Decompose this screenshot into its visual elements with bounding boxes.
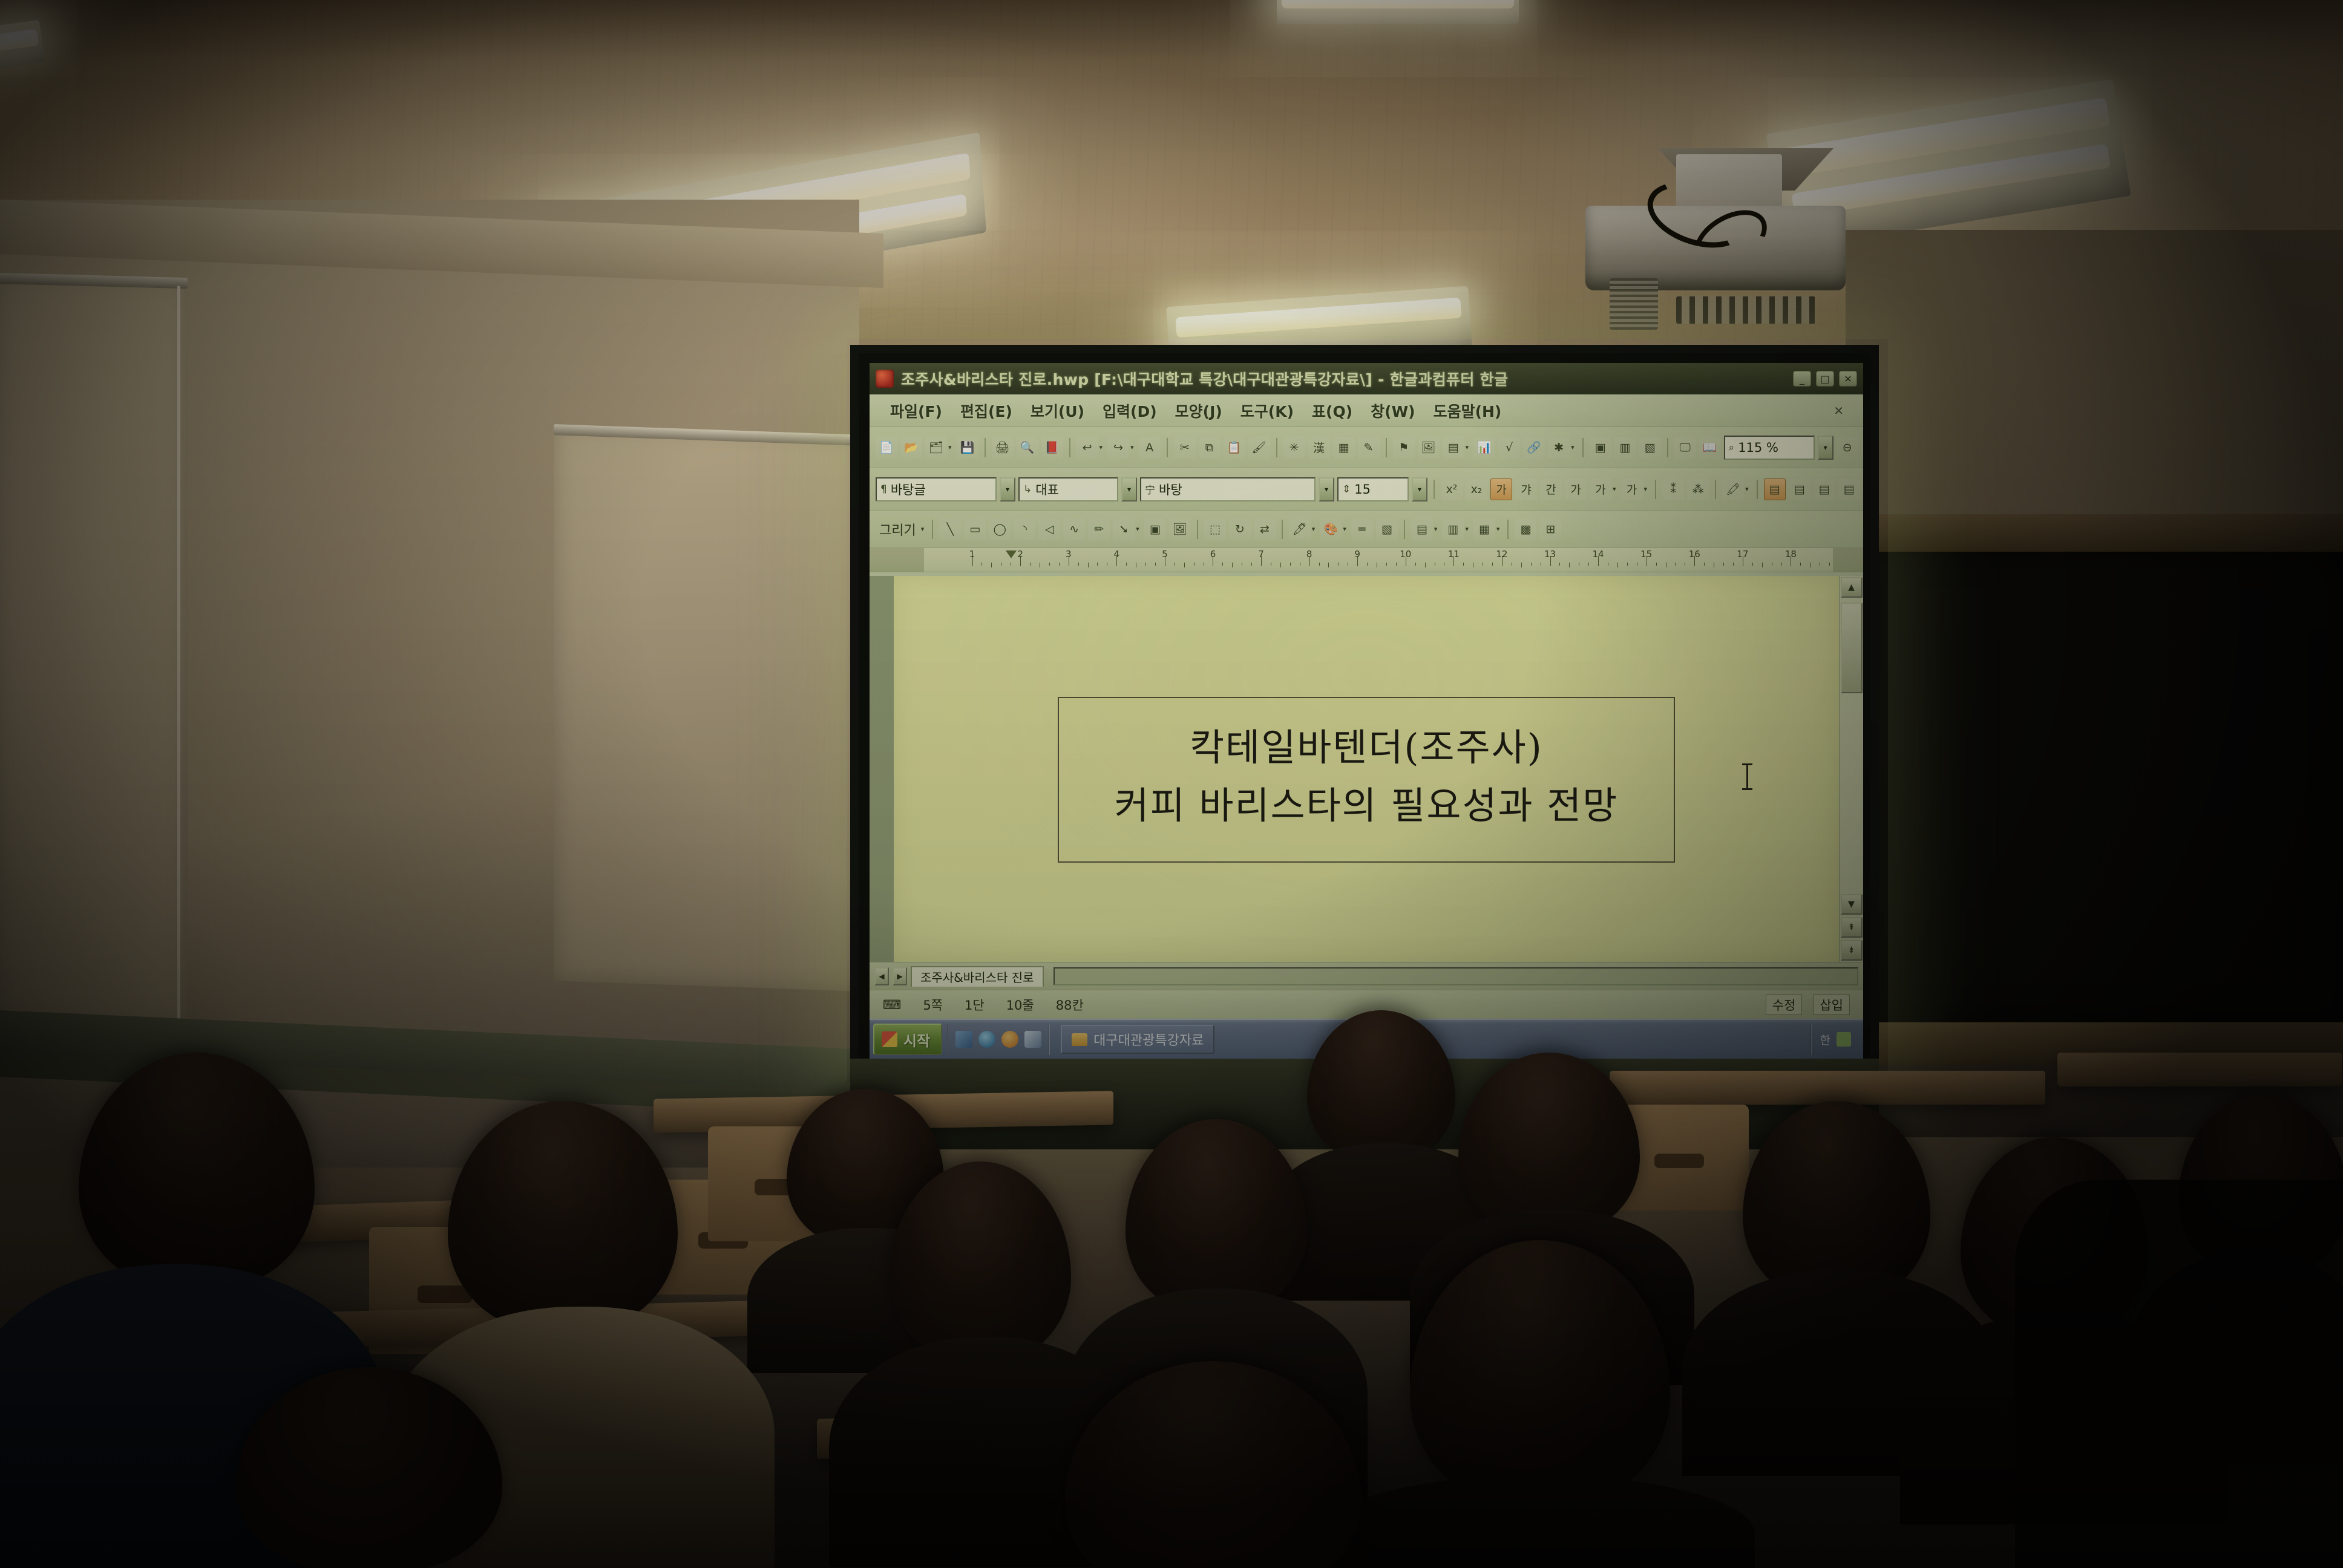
toolbar-separator bbox=[1434, 480, 1435, 499]
subscript-icon[interactable]: x₂ bbox=[1466, 479, 1487, 500]
drawing-toolbar-label: 그리기 bbox=[876, 520, 920, 539]
font-name-combo[interactable]: 宁 바탕 bbox=[1140, 477, 1316, 501]
toolbar-separator bbox=[1069, 438, 1070, 457]
redo-icon[interactable]: ↪ bbox=[1107, 437, 1129, 459]
minimize-button[interactable]: _ bbox=[1793, 371, 1811, 387]
open-document-icon[interactable]: 📂 bbox=[900, 437, 922, 459]
ruler-ticks: 123456789101112131415161718 bbox=[924, 548, 1839, 572]
toolbar-separator bbox=[1757, 480, 1758, 499]
ceiling-projector bbox=[1573, 154, 1858, 296]
ruler-tick-label: 2 bbox=[1017, 549, 1023, 560]
chevron-down-icon[interactable]: ▾ bbox=[1571, 443, 1575, 451]
superscript-icon[interactable]: x² bbox=[1441, 479, 1463, 500]
align-right-icon[interactable]: ▤ bbox=[1838, 479, 1860, 500]
menu-item-view[interactable]: 보기(U) bbox=[1023, 398, 1092, 423]
fill-color-icon[interactable]: 🎨 bbox=[1320, 518, 1342, 540]
hangul-word-processor-window[interactable]: 조주사&바리스타 진로.hwp [F:\대구대학교 특강\대구대관광특강자료\]… bbox=[870, 363, 1863, 1059]
student-desk bbox=[2057, 1053, 2342, 1086]
insert-footnote-icon[interactable]: ✱ bbox=[1548, 437, 1570, 459]
menu-item-window[interactable]: 창(W) bbox=[1363, 398, 1422, 423]
toolbar-separator bbox=[1276, 438, 1277, 457]
text-cursor bbox=[1746, 763, 1748, 790]
hanja-convert-icon[interactable]: 漢 bbox=[1308, 437, 1330, 459]
paste-icon[interactable]: 📋 bbox=[1224, 437, 1245, 459]
audience-body bbox=[2015, 1180, 2343, 1568]
projected-desktop: 조주사&바리스타 진로.hwp [F:\대구대학교 특강\대구대관광특강자료\]… bbox=[870, 363, 1863, 1059]
ruler-tick-label: 5 bbox=[1162, 549, 1168, 560]
rectangle-tool-icon[interactable]: ▭ bbox=[964, 518, 986, 540]
grid-toggle-icon[interactable]: ▩ bbox=[1515, 518, 1536, 540]
align-justify-icon[interactable]: ▤ bbox=[1764, 479, 1786, 500]
chevron-down-icon[interactable]: ▾ bbox=[1434, 525, 1438, 533]
ruler-tick-label: 4 bbox=[1114, 549, 1120, 560]
menu-item-table[interactable]: 표(Q) bbox=[1305, 398, 1360, 423]
close-document-icon[interactable]: ✕ bbox=[1833, 403, 1850, 418]
chevron-down-icon[interactable]: ▾ bbox=[1644, 485, 1648, 493]
ruler-tick-label: 15 bbox=[1640, 549, 1652, 560]
audience-area bbox=[0, 998, 2343, 1568]
font-size-value: 15 bbox=[1354, 482, 1371, 497]
ruler-tick-label: 11 bbox=[1448, 549, 1460, 560]
paragraph-style-value: 바탕글 bbox=[891, 480, 926, 498]
char-style-icon: ↳ bbox=[1023, 483, 1032, 495]
insert-equation-icon[interactable]: √ bbox=[1498, 437, 1520, 459]
chevron-down-icon[interactable]: ▾ bbox=[948, 443, 952, 451]
audience-head bbox=[448, 1101, 678, 1331]
tab-prev-button[interactable]: ◀ bbox=[874, 967, 889, 985]
font-size-icon: ⇕ bbox=[1342, 483, 1351, 495]
lecture-room: 조주사&바리스타 진로.hwp [F:\대구대학교 특강\대구대관광특강자료\]… bbox=[0, 0, 2343, 1568]
spell-check-icon[interactable]: ✳ bbox=[1283, 437, 1305, 459]
window-title: 조주사&바리스타 진로.hwp [F:\대구대학교 특강\대구대관광특강자료\]… bbox=[901, 368, 1508, 390]
hwp-app-icon bbox=[876, 370, 894, 388]
toolbar-separator bbox=[1282, 520, 1283, 539]
zoom-level-combo[interactable]: ⌕ 115 % bbox=[1724, 436, 1815, 460]
insert-picture-icon[interactable]: 🖼 bbox=[1418, 437, 1440, 459]
align-center-icon[interactable]: ▤ bbox=[1814, 479, 1835, 500]
font-size-dropdown[interactable]: ▾ bbox=[1412, 477, 1427, 501]
insert-chart-icon[interactable]: 📊 bbox=[1473, 437, 1495, 459]
tab-next-button[interactable]: ▶ bbox=[893, 967, 907, 985]
zoom-in-icon[interactable]: ⊕ bbox=[1861, 437, 1863, 459]
paragraph-style-dropdown[interactable]: ▾ bbox=[1000, 477, 1015, 501]
underline-icon[interactable]: 간 bbox=[1540, 479, 1562, 500]
zoom-level-value: 115 % bbox=[1738, 440, 1778, 455]
page-setup-icon[interactable]: ▣ bbox=[1590, 437, 1611, 459]
ruler-tick-label: 1 bbox=[969, 549, 975, 560]
ruler-tick-label: 6 bbox=[1210, 549, 1216, 560]
bookmark-icon[interactable]: ⚑ bbox=[1393, 437, 1415, 459]
new-document-icon[interactable]: 📄 bbox=[876, 437, 897, 459]
chevron-down-icon[interactable]: ▾ bbox=[921, 525, 925, 533]
column-setup-icon[interactable]: ▥ bbox=[1614, 437, 1636, 459]
chevron-down-icon[interactable]: ▾ bbox=[1613, 485, 1616, 493]
font-icon: 宁 bbox=[1145, 482, 1155, 497]
document-tab[interactable]: 조주사&바리스타 진로 bbox=[911, 966, 1044, 987]
document-title-box: 칵테일바텐더(조주사) 커피 바리스타의 필요성과 전망 bbox=[1058, 697, 1675, 863]
undo-icon[interactable]: ↩ bbox=[1076, 437, 1098, 459]
ruler-tick-label: 16 bbox=[1689, 549, 1700, 560]
first-line-indent-marker[interactable] bbox=[1006, 550, 1017, 558]
audience-head bbox=[79, 1053, 315, 1289]
prev-page-button[interactable]: ⇞ bbox=[1841, 917, 1863, 938]
toolbar-separator bbox=[1197, 520, 1198, 539]
order-objects-icon[interactable]: ▦ bbox=[1473, 518, 1495, 540]
chevron-down-icon[interactable]: ▾ bbox=[1099, 443, 1103, 451]
window-blind bbox=[554, 424, 859, 991]
save-document-icon[interactable]: 💾 bbox=[957, 437, 978, 459]
toolbar-separator bbox=[1582, 438, 1584, 457]
document-title-line-1: 칵테일바텐더(조주사) bbox=[1059, 719, 1674, 777]
standard-toolbar: 📄 📂 🗂 ▾ 💾 🖨 🔍 📕 ↩ ▾ ↪ ▾ A ✂ ⧉ 📋 🖌 bbox=[870, 427, 1863, 468]
paragraph-style-combo[interactable]: ¶ 바탕글 bbox=[876, 477, 997, 501]
char-style-value: 대표 bbox=[1035, 480, 1059, 498]
toolbar-separator bbox=[1667, 438, 1668, 457]
toolbar-separator bbox=[1167, 438, 1168, 457]
strikethrough-icon[interactable]: 가 bbox=[1565, 479, 1587, 500]
screen-mode-icon[interactable]: 🖵 bbox=[1674, 437, 1696, 459]
curve-tool-icon[interactable]: ∿ bbox=[1063, 518, 1085, 540]
cut-icon[interactable]: ✂ bbox=[1174, 437, 1196, 459]
blind-cord bbox=[177, 286, 180, 1024]
blackboard bbox=[1873, 544, 2343, 1028]
chevron-down-icon[interactable]: ▾ bbox=[1465, 525, 1469, 533]
document-page[interactable]: 칵테일바텐더(조주사) 커피 바리스타의 필요성과 전망 강사 : 배승규 bbox=[894, 576, 1839, 962]
line-style-icon[interactable]: ═ bbox=[1351, 518, 1373, 540]
object-select-icon[interactable]: ⬚ bbox=[1204, 518, 1226, 540]
document-info-icon[interactable]: 📕 bbox=[1041, 437, 1063, 459]
special-char-icon[interactable]: ▦ bbox=[1333, 437, 1355, 459]
text-color-icon[interactable]: 가 bbox=[1621, 479, 1643, 500]
student-desk bbox=[1610, 1071, 2045, 1105]
next-page-button[interactable]: ⇟ bbox=[1841, 940, 1863, 961]
maximize-button[interactable]: □ bbox=[1816, 371, 1834, 387]
ruler-tick-label: 7 bbox=[1258, 549, 1264, 560]
ruler-tick-label: 14 bbox=[1593, 549, 1604, 560]
horizontal-ruler[interactable]: 123456789101112131415161718 bbox=[870, 548, 1863, 572]
ruler-tick-label: 10 bbox=[1400, 549, 1411, 560]
connector-tool-icon[interactable]: ➘ bbox=[1113, 518, 1135, 540]
chevron-down-icon[interactable]: ▾ bbox=[1745, 485, 1749, 493]
rotate-object-icon[interactable]: ↻ bbox=[1229, 518, 1251, 540]
ruler-tick-label: 12 bbox=[1496, 549, 1507, 560]
toolbar-separator bbox=[932, 520, 933, 539]
arc-tool-icon[interactable]: ◝ bbox=[1014, 518, 1035, 540]
snap-toggle-icon[interactable]: ⊞ bbox=[1539, 518, 1561, 540]
chevron-down-icon[interactable]: ▾ bbox=[1496, 525, 1500, 533]
line-color-icon[interactable]: 🖊 bbox=[1289, 518, 1311, 540]
audience-body bbox=[1319, 1476, 1755, 1568]
ruler-tick-label: 18 bbox=[1785, 549, 1797, 560]
zoom-level-dropdown[interactable]: ▾ bbox=[1818, 436, 1833, 460]
format-brush-icon[interactable]: 🖌 bbox=[1248, 437, 1270, 459]
window-titlebar: 조주사&바리스타 진로.hwp [F:\대구대학교 특강\대구대관광특강자료\]… bbox=[870, 363, 1863, 394]
polygon-tool-icon[interactable]: ◁ bbox=[1038, 518, 1060, 540]
font-name-dropdown[interactable]: ▾ bbox=[1319, 477, 1334, 501]
insert-hyperlink-icon[interactable]: 🔗 bbox=[1523, 437, 1545, 459]
copy-icon[interactable]: ⧉ bbox=[1199, 437, 1221, 459]
font-size-combo[interactable]: ⇕ 15 bbox=[1337, 477, 1409, 501]
vertical-scrollbar[interactable]: ▲ ▼ ⇞ ⇟ bbox=[1839, 576, 1863, 962]
window-blind bbox=[0, 273, 188, 1028]
header-footer-icon[interactable]: ▧ bbox=[1639, 437, 1661, 459]
menu-item-tools[interactable]: 도구(K) bbox=[1233, 398, 1301, 423]
memo-icon[interactable]: ✎ bbox=[1358, 437, 1380, 459]
menu-item-file[interactable]: 파일(F) bbox=[883, 398, 949, 423]
document-background: 칵테일바텐더(조주사) 커피 바리스타의 필요성과 전망 강사 : 배승규 ▲ … bbox=[870, 576, 1863, 962]
ellipse-tool-icon[interactable]: ◯ bbox=[989, 518, 1011, 540]
blackboard-frame bbox=[1855, 514, 2343, 552]
toolbar-separator bbox=[985, 438, 986, 457]
document-tab-bar: ◀ ▶ 조주사&바리스타 진로 bbox=[870, 962, 1863, 990]
ruler-tick-label: 3 bbox=[1066, 549, 1072, 560]
magnifier-icon: ⌕ bbox=[1729, 442, 1735, 454]
toolbar-separator bbox=[1507, 520, 1509, 539]
menu-item-edit[interactable]: 편집(E) bbox=[953, 398, 1020, 423]
menu-item-help[interactable]: 도움말(H) bbox=[1426, 398, 1509, 423]
formatting-toolbar: ¶ 바탕글 ▾ ↳ 대표 ▾ 宁 바탕 ▾ ⇕ 15 ▾ bbox=[870, 468, 1863, 511]
char-style-combo[interactable]: ↳ 대표 bbox=[1018, 477, 1118, 501]
picture-tool-icon[interactable]: 🖼 bbox=[1169, 518, 1191, 540]
char-spacing-wide-icon[interactable]: ⁂ bbox=[1687, 479, 1709, 500]
menu-bar: 파일(F) 편집(E) 보기(U) 입력(D) 모양(J) 도구(K) 표(Q)… bbox=[870, 394, 1863, 427]
window-controls: _ □ ✕ bbox=[1793, 371, 1857, 387]
chevron-down-icon[interactable]: ▾ bbox=[1136, 525, 1139, 533]
horizontal-scrollbar[interactable] bbox=[1054, 967, 1858, 985]
italic-icon[interactable]: 갸 bbox=[1515, 479, 1537, 500]
find-icon[interactable]: A bbox=[1139, 437, 1161, 459]
projector-ports bbox=[1676, 296, 1815, 324]
shadow-style-icon[interactable]: ▧ bbox=[1376, 518, 1398, 540]
chevron-down-icon[interactable]: ▾ bbox=[1130, 443, 1134, 451]
ruler-tick-label: 13 bbox=[1544, 549, 1556, 560]
close-button[interactable]: ✕ bbox=[1839, 371, 1857, 387]
scroll-down-button[interactable]: ▼ bbox=[1841, 894, 1863, 915]
font-name-value: 바탕 bbox=[1159, 480, 1182, 498]
toolbar-separator bbox=[1655, 480, 1656, 499]
ruler-tick-label: 9 bbox=[1354, 549, 1360, 560]
document-viewport[interactable]: 칵테일바텐더(조주사) 커피 바리스타의 필요성과 전망 강사 : 배승규 ▲ … bbox=[870, 576, 1863, 962]
drawing-toolbar: 그리기 ▾ ╲ ▭ ◯ ◝ ◁ ∿ ✏ ➘ ▾ ▣ 🖼 ⬚ ↻ ⇄ 🖊 bbox=[870, 511, 1863, 548]
flip-object-icon[interactable]: ⇄ bbox=[1254, 518, 1276, 540]
highlight-icon[interactable]: 🖍 bbox=[1722, 479, 1744, 500]
scroll-up-button[interactable]: ▲ bbox=[1841, 577, 1863, 598]
bold-icon[interactable]: 가 bbox=[1490, 479, 1512, 500]
chevron-down-icon[interactable]: ▾ bbox=[1343, 525, 1346, 533]
align-left-icon[interactable]: ▤ bbox=[1789, 479, 1810, 500]
group-objects-icon[interactable]: ▥ bbox=[1442, 518, 1464, 540]
line-tool-icon[interactable]: ╲ bbox=[939, 518, 961, 540]
ruler-tick-label: 8 bbox=[1306, 549, 1312, 560]
chevron-down-icon[interactable]: ▾ bbox=[1466, 443, 1469, 451]
scrollbar-thumb[interactable] bbox=[1841, 603, 1863, 693]
ceiling-light-fixture bbox=[1277, 0, 1519, 24]
char-spacing-narrow-icon[interactable]: ⁑ bbox=[1662, 479, 1684, 500]
textbox-tool-icon[interactable]: ▣ bbox=[1144, 518, 1166, 540]
audience-head bbox=[1126, 1119, 1307, 1313]
toolbar-separator bbox=[1715, 480, 1716, 499]
paragraph-style-icon: ¶ bbox=[880, 483, 887, 495]
projector-vent bbox=[1610, 278, 1658, 330]
print-document-icon[interactable]: 🖨 bbox=[992, 437, 1014, 459]
chevron-down-icon[interactable]: ▾ bbox=[1312, 525, 1316, 533]
print-preview-icon[interactable]: 🔍 bbox=[1017, 437, 1038, 459]
menu-item-input[interactable]: 입력(D) bbox=[1095, 398, 1164, 423]
toolbar-separator bbox=[1404, 520, 1405, 539]
insert-table-icon[interactable]: ▤ bbox=[1443, 437, 1464, 459]
book-view-icon[interactable]: 📖 bbox=[1699, 437, 1721, 459]
toolbar-separator bbox=[1386, 438, 1387, 457]
audience-head bbox=[1307, 1010, 1455, 1161]
recent-documents-icon[interactable]: 🗂 bbox=[925, 437, 947, 459]
freehand-tool-icon[interactable]: ✏ bbox=[1088, 518, 1110, 540]
char-style-dropdown[interactable]: ▾ bbox=[1121, 477, 1137, 501]
outline-icon[interactable]: 가 bbox=[1590, 479, 1611, 500]
document-title-line-2: 커피 바리스타의 필요성과 전망 bbox=[1059, 777, 1674, 835]
align-objects-icon[interactable]: ▤ bbox=[1411, 518, 1433, 540]
zoom-out-icon[interactable]: ⊖ bbox=[1837, 437, 1858, 459]
menu-item-format[interactable]: 모양(J) bbox=[1168, 398, 1230, 423]
ruler-tick-label: 17 bbox=[1737, 549, 1748, 560]
